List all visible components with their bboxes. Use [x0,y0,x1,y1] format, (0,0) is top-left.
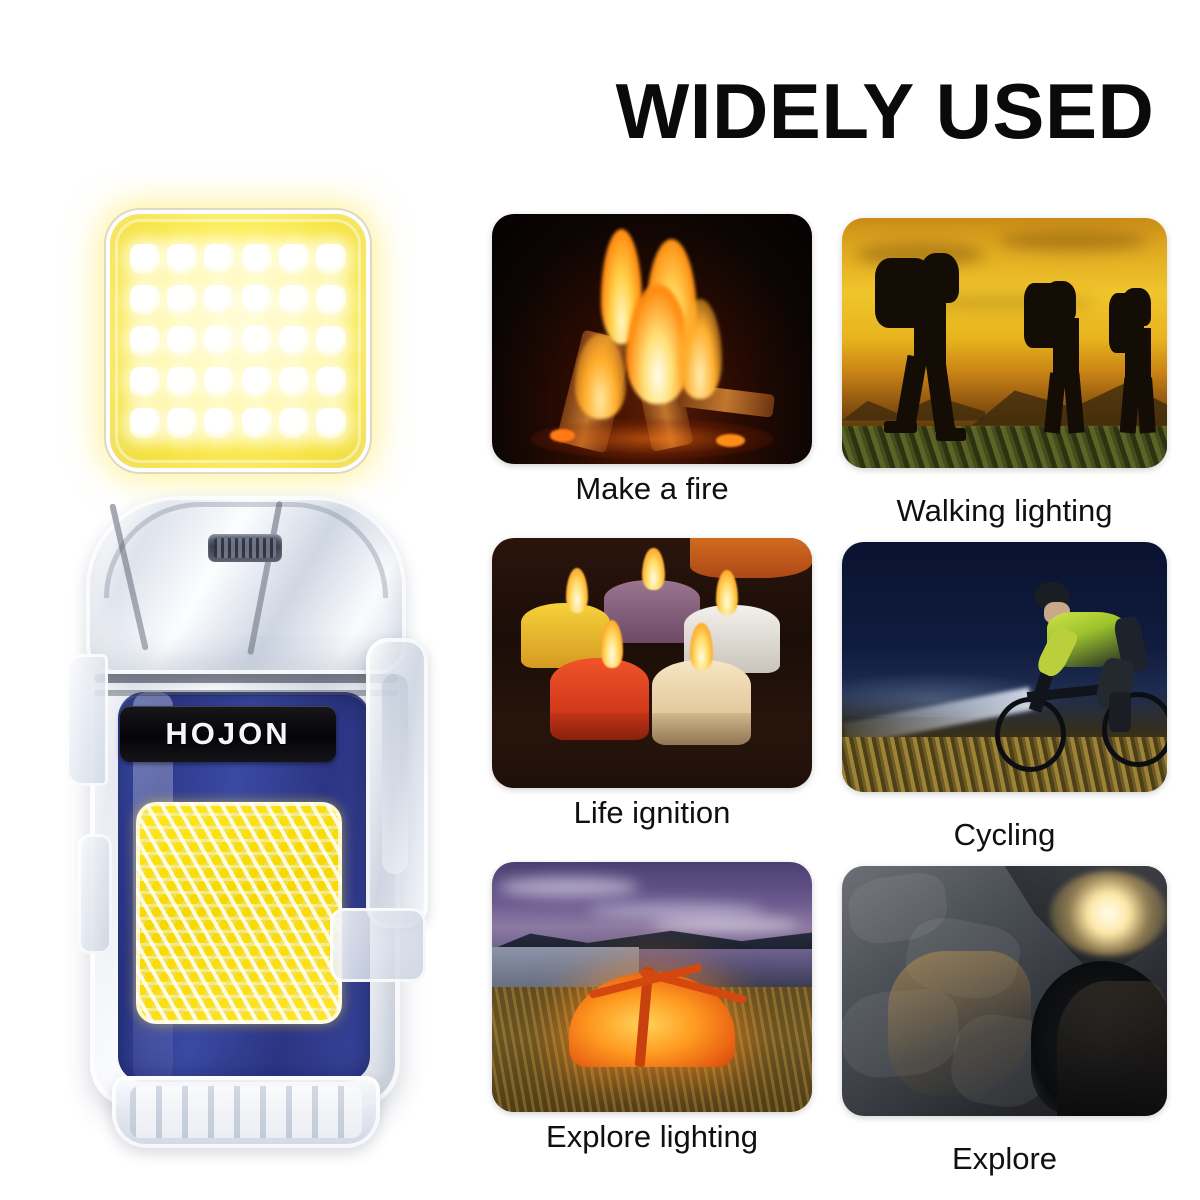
left-side-tab [66,654,108,786]
led-dot [167,285,197,315]
led-dot [167,326,197,356]
use-case-caption: Life ignition [492,788,812,834]
arc-ignition-nozzle [208,534,282,562]
use-case-caption: Walking lighting [842,468,1167,532]
use-case-caption: Explore [842,1116,1167,1180]
led-dot [204,367,234,397]
use-case-card[interactable]: Make a fire [492,214,812,532]
left-lower-tab [78,834,112,954]
brand-plate: HOJON [120,706,336,762]
hinge-band [94,674,398,683]
cave-photo [842,866,1167,1116]
led-dot [167,367,197,397]
cyclist-photo [842,542,1167,792]
led-dot [316,285,346,315]
cob-light-panel [136,802,342,1024]
led-light-panel [110,214,366,468]
led-dot [279,408,309,438]
led-dot [204,244,234,274]
use-case-caption: Make a fire [492,464,812,510]
use-case-card[interactable]: Life ignition [492,538,812,856]
led-dot [316,244,346,274]
led-dot [167,408,197,438]
led-dot [130,285,160,315]
lanyard-clip [366,638,428,928]
campfire-photo [492,214,812,464]
use-case-card[interactable]: Walking lighting [842,214,1167,532]
use-case-card[interactable]: Explore lighting [492,862,812,1180]
use-case-card[interactable]: Cycling [842,538,1167,856]
use-case-caption: Explore lighting [492,1112,812,1158]
hinge-band [94,690,398,696]
led-dot [167,244,197,274]
tent-photo [492,862,812,1112]
brand-name: HOJON [165,716,290,752]
led-dot [279,244,309,274]
side-latch [330,908,426,982]
led-dot [316,367,346,397]
led-dot [204,285,234,315]
led-dot [242,326,272,356]
use-case-caption: Cycling [842,792,1167,856]
candles-photo [492,538,812,788]
led-dot [316,326,346,356]
led-dot [130,408,160,438]
led-dot [204,326,234,356]
poster-canvas: WIDELY USED HOJON [0,0,1200,1200]
use-case-card[interactable]: Explore [842,862,1167,1180]
led-dot [130,326,160,356]
bottom-foot [112,1076,380,1148]
led-dot [204,408,234,438]
page-title: WIDELY USED [600,72,1170,150]
product-lighter: HOJON [30,478,470,1178]
led-dot [279,326,309,356]
led-dot [130,367,160,397]
led-dot [242,285,272,315]
led-dot [130,244,160,274]
use-case-grid: Make a fire [492,214,1182,1164]
led-dot [279,367,309,397]
led-dot [316,408,346,438]
hikers-photo [842,218,1167,468]
led-dot [242,367,272,397]
led-grid [110,214,366,468]
led-dot [242,244,272,274]
led-dot [279,285,309,315]
led-dot [242,408,272,438]
